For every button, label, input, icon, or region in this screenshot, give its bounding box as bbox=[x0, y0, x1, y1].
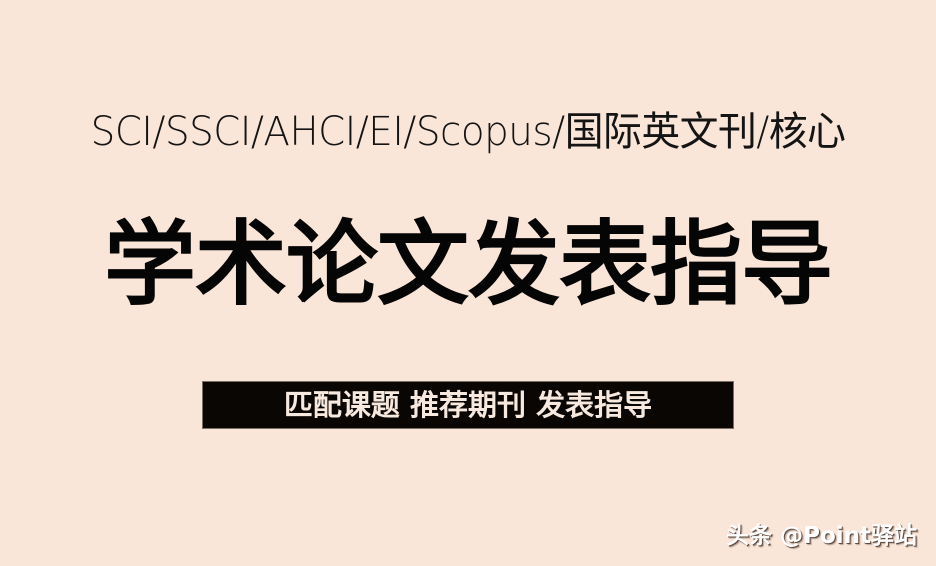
subtitle-row: SCI/SSCI/AHCI/EI/Scopus/国际英文刊/核心 bbox=[0, 104, 936, 160]
highlight-banner: 匹配课题 推荐期刊 发表指导 bbox=[203, 382, 733, 428]
watermark-text: 头条 @Point驿站 bbox=[726, 525, 917, 548]
highlight-banner-text: 匹配课题 推荐期刊 发表指导 bbox=[284, 391, 652, 420]
poster-canvas: SCI/SSCI/AHCI/EI/Scopus/国际英文刊/核心 学术论文发表指… bbox=[0, 0, 936, 566]
page-title: 学术论文发表指导 bbox=[104, 219, 832, 311]
title-row: 学术论文发表指导 bbox=[0, 206, 936, 324]
watermark: 头条 @Point驿站 bbox=[726, 521, 917, 551]
subtitle-text: SCI/SSCI/AHCI/EI/Scopus/国际英文刊/核心 bbox=[91, 112, 846, 152]
banner-row: 匹配课题 推荐期刊 发表指导 bbox=[0, 382, 936, 428]
